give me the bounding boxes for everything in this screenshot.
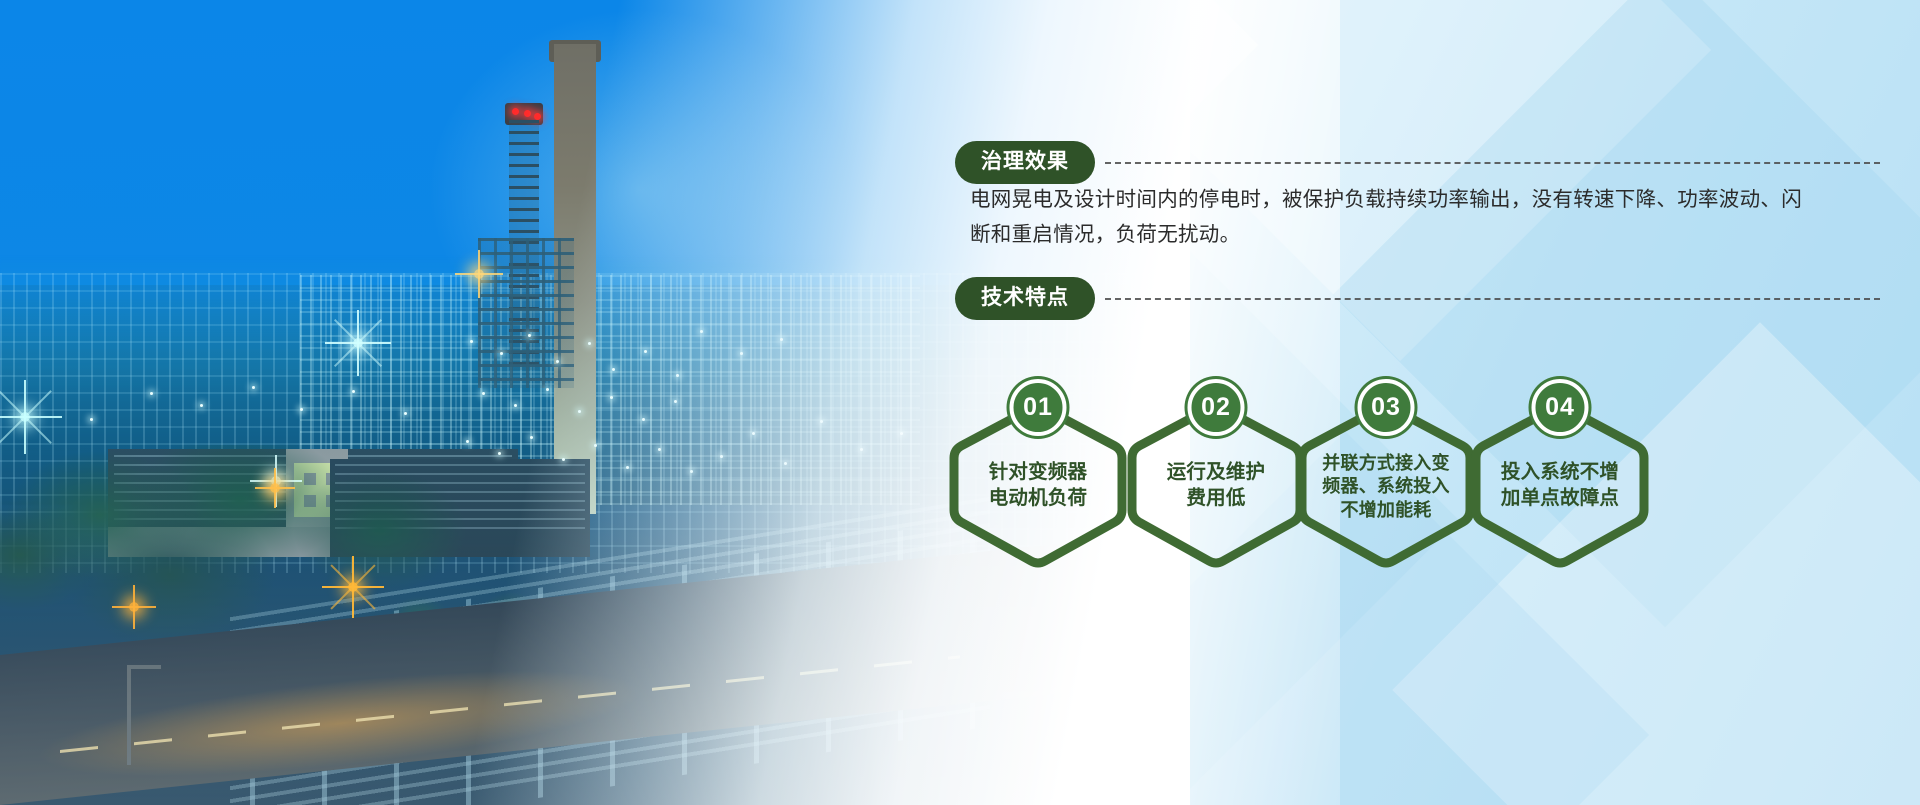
banner-root: 治理效果 电网晃电及设计时间内的停电时，被保护负载持续功率输出，没有转速下降、功… — [0, 0, 1920, 805]
section-dashed-rule — [1105, 162, 1880, 164]
feature-label-line: 针对变频器 — [958, 459, 1118, 485]
feature-label: 针对变频器 电动机负荷 — [950, 459, 1126, 512]
feature-label-line: 费用低 — [1136, 485, 1296, 511]
feature-label: 投入系统不增 加单点故障点 — [1472, 459, 1648, 512]
section-header-technical-features: 技术特点 — [955, 277, 1880, 320]
feature-number-badge: 01 — [1010, 379, 1067, 436]
feature-hexagon-02[interactable]: 02 运行及维护 费用低 — [1128, 398, 1304, 568]
section-header-governance-effect: 治理效果 — [955, 141, 1880, 184]
section-dashed-rule — [1105, 298, 1880, 300]
feature-label: 运行及维护 费用低 — [1128, 459, 1304, 512]
feature-label-line: 运行及维护 — [1136, 459, 1296, 485]
feature-hexagon-04[interactable]: 04 投入系统不增 加单点故障点 — [1472, 398, 1648, 568]
feature-hexagon-03[interactable]: 03 并联方式接入变 频器、系统投入 不增加能耗 — [1298, 398, 1474, 568]
feature-hexagon-row: 01 针对变频器 电动机负荷 02 运行及维护 费用低 — [950, 398, 1570, 573]
feature-label-line: 电动机负荷 — [958, 485, 1118, 511]
section-label-technical-features: 技术特点 — [955, 277, 1095, 320]
feature-label-line: 投入系统不增 — [1480, 459, 1640, 485]
feature-hexagon-01[interactable]: 01 针对变频器 电动机负荷 — [950, 398, 1126, 568]
feature-label-line: 加单点故障点 — [1480, 485, 1640, 511]
feature-label-line: 频器、系统投入 — [1306, 476, 1466, 499]
feature-label: 并联方式接入变 频器、系统投入 不增加能耗 — [1298, 452, 1474, 522]
feature-number-badge: 02 — [1188, 379, 1245, 436]
feature-number-badge: 03 — [1358, 379, 1415, 436]
feature-number-badge: 04 — [1532, 379, 1589, 436]
feature-label-line: 并联方式接入变 — [1306, 452, 1466, 475]
section-label-governance-effect: 治理效果 — [955, 141, 1095, 184]
banner-content: 治理效果 电网晃电及设计时间内的停电时，被保护负载持续功率输出，没有转速下降、功… — [0, 0, 1920, 805]
governance-effect-paragraph: 电网晃电及设计时间内的停电时，被保护负载持续功率输出，没有转速下降、功率波动、闪… — [970, 182, 1805, 253]
feature-label-line: 不增加能耗 — [1306, 499, 1466, 522]
